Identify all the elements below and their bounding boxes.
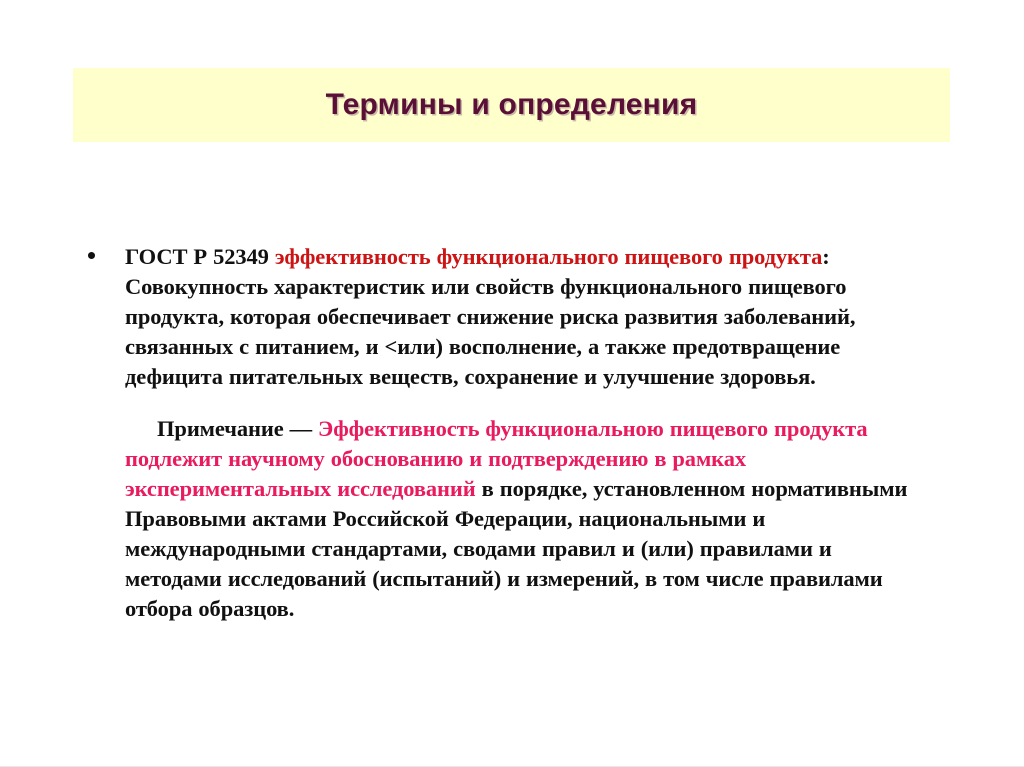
definition-separator: : (822, 244, 829, 269)
slide-body: ГОСТ Р 52349 эффективность функционально… (80, 219, 960, 647)
note-label: Примечание (157, 416, 284, 441)
definition-body: Совокупность характеристик или свойств ф… (125, 274, 855, 389)
bullet-point-icon (88, 252, 95, 259)
term-highlight: эффективность функционального пищевого п… (275, 244, 822, 269)
slide-title-band: Термины и определения (73, 68, 950, 142)
standard-reference: ГОСТ Р 52349 (125, 244, 269, 269)
slide-root: { "slide": { "title": "Термины и определ… (0, 0, 1024, 767)
definition-paragraph: ГОСТ Р 52349 эффективность функционально… (125, 242, 915, 392)
bullet-list-item: ГОСТ Р 52349 эффективность функционально… (80, 242, 960, 625)
note-paragraph: Примечание — Эффективность функционально… (125, 414, 915, 624)
page-title: Термины и определения (326, 88, 698, 122)
note-dash: — (284, 416, 318, 441)
